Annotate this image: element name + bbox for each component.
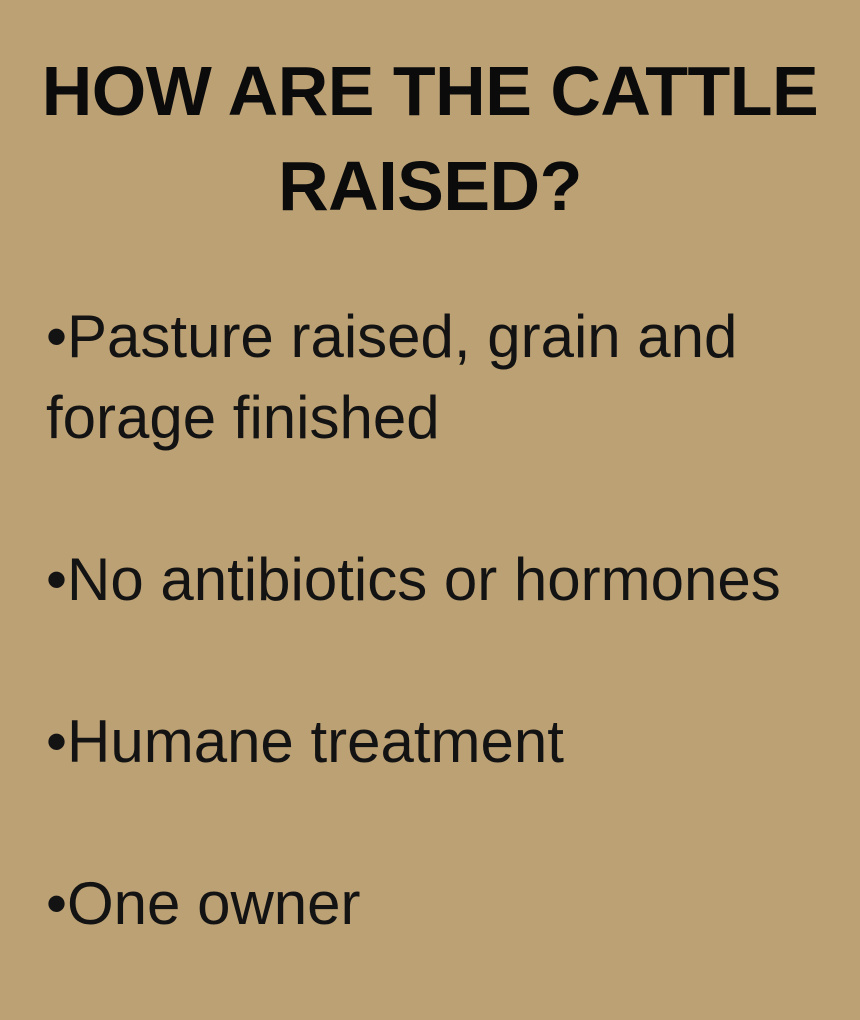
bullet-point-icon: • [46,708,67,775]
bullet-point-icon: • [46,303,67,370]
list-item-label: One owner [67,870,361,937]
list-item-label: No antibiotics or hormones [67,546,781,613]
page-title-line-2: RAISED? [36,139,824,234]
list-item-label: Pasture raised, grain and forage finishe… [46,303,737,451]
page-title: HOW ARE THE CATTLE RAISED? [0,44,860,234]
list-item: •One owner [46,863,846,944]
bullet-list: •Pasture raised, grain and forage finish… [46,296,846,944]
page-title-line-1: HOW ARE THE CATTLE [36,44,824,139]
list-item: •Humane treatment [46,701,846,782]
list-item: •No antibiotics or hormones [46,539,846,620]
list-item: •Pasture raised, grain and forage finish… [46,296,846,458]
bullet-point-icon: • [46,870,67,937]
slide-canvas: HOW ARE THE CATTLE RAISED? •Pasture rais… [0,0,860,1020]
list-item-label: Humane treatment [67,708,564,775]
bullet-point-icon: • [46,546,67,613]
